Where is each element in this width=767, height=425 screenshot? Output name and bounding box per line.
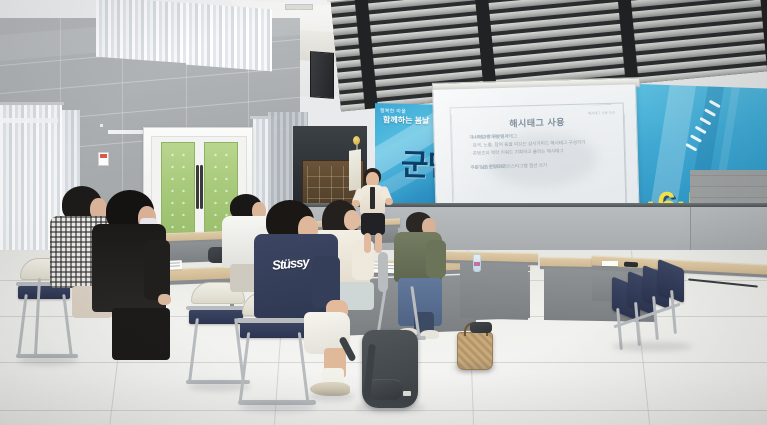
banner-dash [695, 126, 707, 135]
door-handle-right[interactable] [200, 165, 203, 209]
chairs-shadow [612, 342, 692, 351]
backpack-logo-tag [403, 391, 411, 396]
leg [364, 233, 371, 253]
banner-left-sub-text: 함께하는 봄날 [383, 114, 429, 126]
folding-chair[interactable] [378, 252, 428, 342]
seminar-room-photo: 행복한 마을 함께하는 봄날 군민 ·6·5 해시태그 사용 안내 해시태그 사… [0, 0, 767, 425]
chair-leg [188, 318, 199, 382]
person-shadow [308, 392, 354, 401]
chair-shadow [18, 356, 78, 365]
phone-on-table [624, 262, 638, 268]
safety-sign [98, 152, 109, 166]
slide-body: 해시태그란 무엇인가 · 나라별/세대별 해시태그 · 검색, 노출, 참여 등… [469, 130, 616, 172]
presenter [352, 168, 396, 258]
bottle-label [474, 262, 480, 266]
banner-dash [704, 108, 716, 117]
chair-leg [410, 286, 420, 338]
leg [112, 308, 170, 360]
arm [426, 240, 446, 278]
banner-dash [699, 117, 711, 126]
handbag-accessory [470, 322, 492, 333]
door-handle-left[interactable] [196, 165, 199, 209]
chair-leg [17, 294, 28, 356]
attendee-black-hoodie [92, 190, 176, 370]
upper-curtain [96, 0, 188, 63]
chair-leg [239, 332, 251, 402]
banner-dash [690, 134, 702, 143]
table-modesty-panel [460, 262, 528, 320]
hand [385, 198, 393, 205]
chair-shadow [240, 402, 316, 412]
arm [144, 240, 170, 300]
water-bottle [473, 254, 481, 272]
banner-dash [685, 143, 697, 152]
handbag-shadow [452, 364, 496, 372]
presentation-slide: 해시태그 사용 안내 해시태그 사용 해시태그란 무엇인가 · 나라별/세대별 … [450, 103, 627, 210]
safety-sign-mark [100, 154, 107, 158]
backpack-front-pocket [368, 379, 402, 400]
necktie [370, 187, 375, 209]
wall-tile-line [0, 67, 300, 94]
leg [375, 233, 382, 253]
backpack-shadow [356, 402, 424, 413]
flag-finial [353, 136, 360, 145]
upper-curtain [186, 3, 272, 72]
stussy-print: Stüssy [271, 254, 309, 273]
hand [158, 294, 171, 305]
curtain-rail [0, 102, 64, 105]
loudspeaker [310, 51, 334, 99]
handout-paper [602, 261, 618, 266]
attendee-navy-tshirt: Stüssy [254, 200, 354, 400]
wall-socket [100, 124, 103, 127]
skirt [361, 213, 385, 235]
window-light-strip [0, 118, 58, 123]
